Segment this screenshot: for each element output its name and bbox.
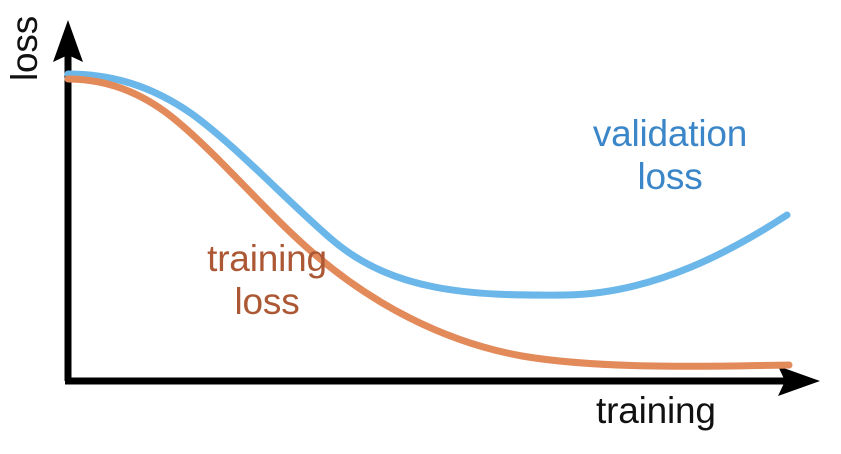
y-axis-label: loss [6,16,43,81]
training-loss-annotation-line2: loss [185,281,349,324]
validation-loss-annotation: validation loss [574,113,766,199]
x-axis-label: training [596,392,716,429]
validation-loss-annotation-line2: loss [574,156,766,199]
loss-curve-figure: loss training validation loss training l… [0,0,841,454]
training-loss-annotation-line1: training [185,238,349,281]
validation-loss-annotation-line1: validation [574,113,766,156]
training-loss-annotation: training loss [185,238,349,324]
plot-canvas [0,0,841,454]
